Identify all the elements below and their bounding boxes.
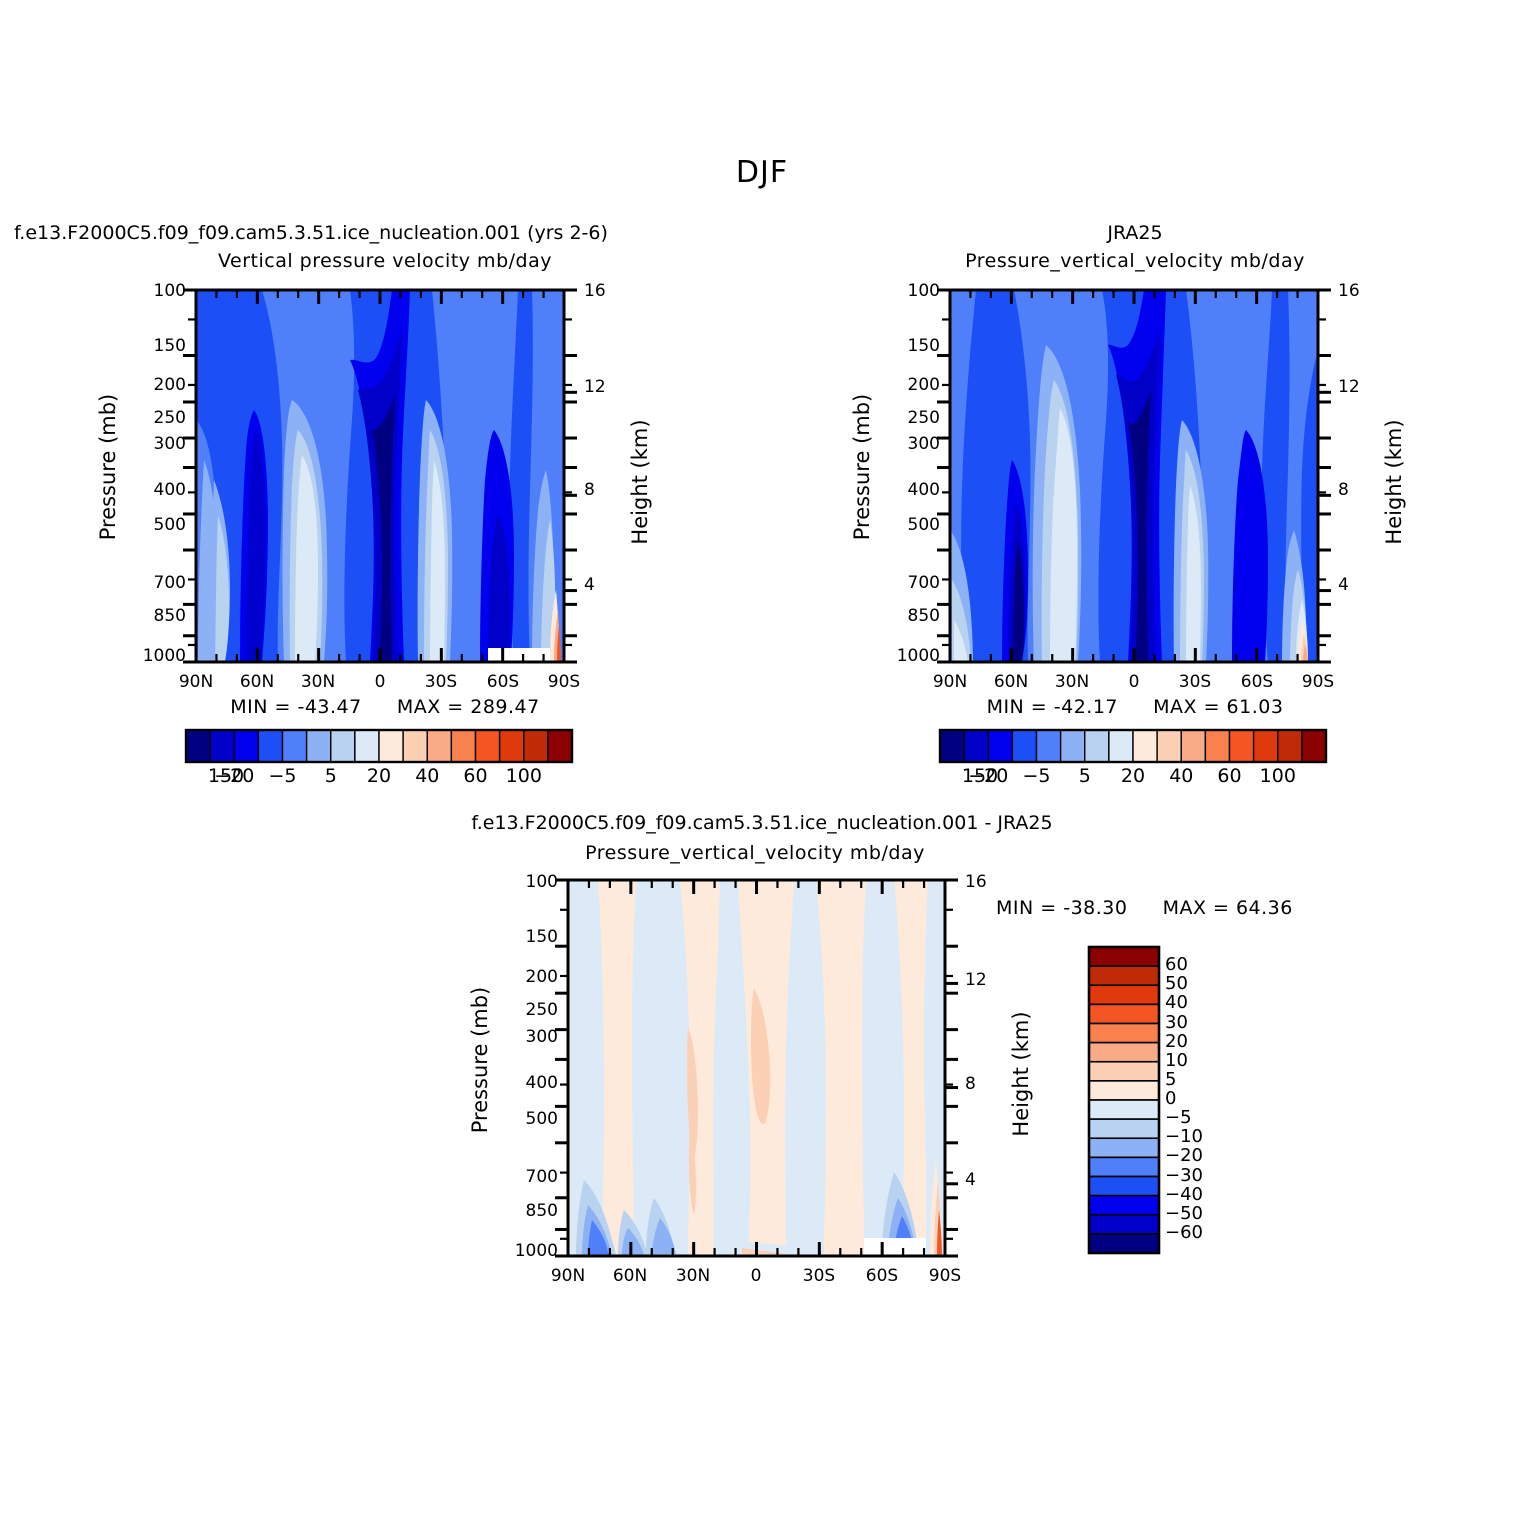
y-axis-label-model: Pressure (mb)	[0, 455, 228, 479]
colorbar-swatch	[355, 730, 379, 762]
minmax-obs: MIN = -42.17 MAX = 61.03	[900, 696, 1370, 718]
x-tick-30S: 30S	[411, 672, 471, 692]
y2-tick-obs-16: 16	[1338, 281, 1360, 301]
colorbar-swatch	[988, 730, 1012, 762]
colorbar-tick-label: 0	[1165, 1088, 1176, 1109]
plot-diff[interactable]	[568, 880, 945, 1256]
colorbar-swatch	[1089, 1062, 1159, 1081]
colorbar-tick-label: −30	[1165, 1165, 1203, 1186]
y2-tick-12: 12	[584, 377, 606, 397]
colorbar-labels-diff: 60504030201050−5−10−20−30−40−50−60	[1165, 947, 1235, 1253]
colorbar-swatch	[1089, 966, 1159, 985]
y2-axis-label-obs: Height (km)	[1274, 470, 1514, 494]
y-tick-diff-100: 100	[526, 872, 558, 892]
minmax-model: MIN = -43.47 MAX = 289.47	[150, 696, 620, 718]
plot-obs[interactable]	[950, 290, 1318, 662]
y-tick-obs-250: 250	[908, 408, 940, 428]
colorbar-tick-label: 150	[940, 765, 1020, 787]
colorbar-swatch	[379, 730, 403, 762]
y2-tick-diff-12: 12	[965, 970, 987, 990]
var-title-obs: Pressure_vertical_velocity mb/day	[900, 250, 1370, 272]
x-tick-obs-30S: 30S	[1165, 672, 1225, 692]
max-label-diff: MAX = 64.36	[1163, 897, 1293, 919]
y-tick-diff-250: 250	[526, 1000, 558, 1020]
y-tick-obs-1000: 1000	[897, 646, 940, 666]
y-tick-diff-1000: 1000	[515, 1241, 558, 1261]
colorbar-tick-label: 100	[1238, 765, 1318, 787]
colorbar-diff[interactable]	[1089, 947, 1159, 1253]
x-tick-0: 0	[350, 672, 410, 692]
y-tick-obs-850: 850	[908, 606, 940, 626]
colorbar-tick-label: 30	[1165, 1012, 1188, 1033]
colorbar-obs[interactable]	[940, 730, 1326, 762]
colorbar-tick-label: 20	[1165, 1031, 1188, 1052]
colorbar-swatch	[403, 730, 427, 762]
y-tick-obs-500: 500	[908, 515, 940, 535]
y-tick-500: 500	[154, 515, 186, 535]
x-tick-diff-60N: 60N	[600, 1266, 660, 1286]
colorbar-tick-label: 60	[1165, 954, 1188, 975]
y-tick-obs-100: 100	[908, 281, 940, 301]
contour-field-diff	[568, 880, 945, 1256]
colorbar-swatch	[1089, 1157, 1159, 1176]
y-tick-obs-700: 700	[908, 573, 940, 593]
colorbar-swatch	[1089, 1100, 1159, 1119]
x-tick-90N: 90N	[166, 672, 226, 692]
colorbar-swatch	[1230, 730, 1254, 762]
x-tick-diff-0: 0	[726, 1266, 786, 1286]
colorbar-swatch	[1037, 730, 1061, 762]
colorbar-swatch	[1089, 1081, 1159, 1100]
x-tick-diff-60S: 60S	[852, 1266, 912, 1286]
colorbar-tick-label: −40	[1165, 1184, 1203, 1205]
colorbar-tick-label: 40	[1165, 992, 1188, 1013]
colorbar-swatch	[451, 730, 475, 762]
y-tick-100: 100	[154, 281, 186, 301]
colorbar-swatch	[940, 730, 964, 762]
y-tick-850: 850	[154, 606, 186, 626]
y-tick-diff-500: 500	[526, 1109, 558, 1129]
colorbar-swatch	[331, 730, 355, 762]
colorbar-tick-label: 10	[1165, 1050, 1188, 1071]
colorbar-tick-label: 100	[484, 765, 564, 787]
x-tick-obs-0: 0	[1104, 672, 1164, 692]
colorbar-labels-model: −20−55204060100150	[186, 765, 572, 793]
y2-tick-obs-12: 12	[1338, 377, 1360, 397]
var-title-diff: Pressure_vertical_velocity mb/day	[520, 842, 990, 864]
y2-tick-obs-4: 4	[1338, 575, 1349, 595]
y-tick-250: 250	[154, 408, 186, 428]
y-axis-label-diff: Pressure (mb)	[360, 1048, 600, 1072]
colorbar-swatch	[1089, 1024, 1159, 1043]
colorbar-swatch	[1089, 1215, 1159, 1234]
y-tick-400: 400	[154, 480, 186, 500]
colorbar-swatch	[1089, 1119, 1159, 1138]
y2-tick-diff-4: 4	[965, 1170, 976, 1190]
colorbar-swatch	[186, 730, 210, 762]
colorbar-swatch	[500, 730, 524, 762]
y-axis-label-obs: Pressure (mb)	[742, 455, 982, 479]
max-label-model: MAX = 289.47	[397, 696, 540, 718]
panel-title-model: f.e13.F2000C5.f09_f09.cam5.3.51.ice_nucl…	[14, 222, 608, 244]
colorbar-swatch	[476, 730, 500, 762]
x-tick-diff-30S: 30S	[789, 1266, 849, 1286]
min-label-diff: MIN = -38.30	[996, 897, 1127, 919]
colorbar-swatch	[524, 730, 548, 762]
colorbar-swatch	[1089, 1196, 1159, 1215]
contour-field-obs	[950, 290, 1318, 662]
colorbar-swatch	[1089, 1234, 1159, 1253]
y2-tick-diff-16: 16	[965, 872, 987, 892]
colorbar-swatch	[210, 730, 234, 762]
y2-tick-4: 4	[584, 575, 595, 595]
colorbar-swatches-diff	[1089, 947, 1159, 1253]
x-tick-diff-90S: 90S	[915, 1266, 975, 1286]
colorbar-swatch	[1089, 1004, 1159, 1023]
x-tick-diff-30N: 30N	[663, 1266, 723, 1286]
y-tick-700: 700	[154, 573, 186, 593]
colorbar-swatches-model	[186, 730, 572, 762]
colorbar-swatch	[1133, 730, 1157, 762]
colorbar-swatch	[1109, 730, 1133, 762]
panel-title-obs: JRA25	[900, 222, 1370, 244]
colorbar-swatch	[964, 730, 988, 762]
colorbar-swatch	[1181, 730, 1205, 762]
y-tick-diff-200: 200	[526, 967, 558, 987]
var-title-model: Vertical pressure velocity mb/day	[150, 250, 620, 272]
x-tick-60S: 60S	[473, 672, 533, 692]
colorbar-tick-label: 5	[1165, 1069, 1176, 1090]
colorbar-tick-label: −20	[1165, 1145, 1203, 1166]
colorbar-tick-label: −50	[1165, 1203, 1203, 1224]
colorbar-swatch	[1205, 730, 1229, 762]
minmax-diff: MIN = -38.30 MAX = 64.36	[996, 897, 1293, 919]
colorbar-swatch	[1089, 985, 1159, 1004]
y-tick-obs-400: 400	[908, 480, 940, 500]
colorbar-swatch	[1254, 730, 1278, 762]
y-tick-1000: 1000	[143, 646, 186, 666]
colorbar-tick-label: −60	[1165, 1222, 1203, 1243]
x-tick-obs-90N: 90N	[920, 672, 980, 692]
colorbar-swatch	[548, 730, 572, 762]
x-tick-diff-90N: 90N	[538, 1266, 598, 1286]
colorbar-swatch	[1085, 730, 1109, 762]
y-tick-300: 300	[154, 434, 186, 454]
colorbar-tick-label: −10	[1165, 1126, 1203, 1147]
colorbar-swatch	[1012, 730, 1036, 762]
panel-title-diff: f.e13.F2000C5.f09_f09.cam5.3.51.ice_nucl…	[262, 812, 1262, 834]
y-tick-200: 200	[154, 375, 186, 395]
y-tick-diff-150: 150	[526, 927, 558, 947]
x-tick-obs-60S: 60S	[1227, 672, 1287, 692]
y-tick-150: 150	[154, 336, 186, 356]
colorbar-swatches-obs	[940, 730, 1326, 762]
min-label-obs: MIN = -42.17	[987, 696, 1118, 718]
min-label-model: MIN = -43.47	[230, 696, 361, 718]
colorbar-swatch	[1089, 947, 1159, 966]
y-tick-obs-150: 150	[908, 336, 940, 356]
colorbar-tick-label: 150	[186, 765, 266, 787]
colorbar-swatch	[283, 730, 307, 762]
x-tick-obs-30N: 30N	[1042, 672, 1102, 692]
colorbar-swatch	[427, 730, 451, 762]
max-label-obs: MAX = 61.03	[1153, 696, 1283, 718]
colorbar-swatch	[1089, 1043, 1159, 1062]
x-tick-obs-60N: 60N	[981, 672, 1041, 692]
colorbar-swatch	[307, 730, 331, 762]
colorbar-tick-label: −5	[1165, 1107, 1192, 1128]
colorbar-swatch	[1089, 1138, 1159, 1157]
y-tick-diff-700: 700	[526, 1167, 558, 1187]
x-tick-90S: 90S	[534, 672, 594, 692]
colorbar-swatch	[1157, 730, 1181, 762]
colorbar-swatch	[1302, 730, 1326, 762]
y-tick-diff-400: 400	[526, 1073, 558, 1093]
y2-axis-label-model: Height (km)	[520, 470, 760, 494]
colorbar-tick-label: 50	[1165, 973, 1188, 994]
contour-field-model	[196, 290, 564, 662]
colorbar-swatch	[1278, 730, 1302, 762]
colorbar-swatch	[234, 730, 258, 762]
y-tick-diff-300: 300	[526, 1027, 558, 1047]
x-tick-60N: 60N	[227, 672, 287, 692]
y-tick-diff-850: 850	[526, 1201, 558, 1221]
colorbar-swatch	[1061, 730, 1085, 762]
x-tick-obs-90S: 90S	[1288, 672, 1348, 692]
colorbar-model[interactable]	[186, 730, 572, 762]
plot-model[interactable]	[196, 290, 564, 662]
y-tick-obs-300: 300	[908, 434, 940, 454]
y-tick-obs-200: 200	[908, 375, 940, 395]
season-title: DJF	[0, 155, 1524, 190]
colorbar-labels-obs: −20−55204060100150	[940, 765, 1326, 793]
colorbar-swatch	[1089, 1177, 1159, 1196]
x-tick-30N: 30N	[288, 672, 348, 692]
colorbar-swatch	[258, 730, 282, 762]
y2-tick-16: 16	[584, 281, 606, 301]
